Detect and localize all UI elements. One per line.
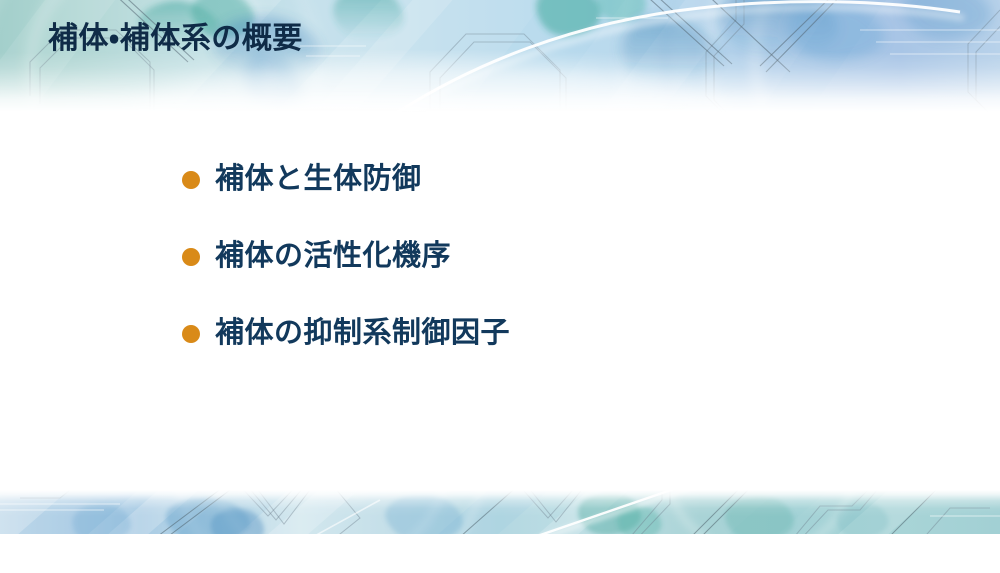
presentation-slide: 補体・補体系の概要 補体と生体防御 補体の活性化機序 補体の抑制系制御因子 [0,0,1000,573]
bullet-item-label: 補体と生体防御 [215,164,422,196]
header-banner [0,0,1000,112]
bullet-list: 補体と生体防御 補体の活性化機序 補体の抑制系制御因子 [182,162,510,352]
bullet-item-label: 補体の活性化機序 [215,241,451,273]
list-item: 補体の活性化機序 [182,239,510,275]
header-white-fade-overlay [0,0,1000,112]
bullet-item-label: 補体の抑制系制御因子 [215,318,510,350]
filled-circle-bullet-icon [182,171,200,189]
list-item: 補体の抑制系制御因子 [182,316,510,352]
filled-circle-bullet-icon [182,248,200,266]
list-item: 補体と生体防御 [182,162,510,198]
footer-white-fade-overlay [0,490,1000,534]
filled-circle-bullet-icon [182,325,200,343]
footer-banner [0,490,1000,534]
slide-title: 補体・補体系の概要 [48,22,303,56]
